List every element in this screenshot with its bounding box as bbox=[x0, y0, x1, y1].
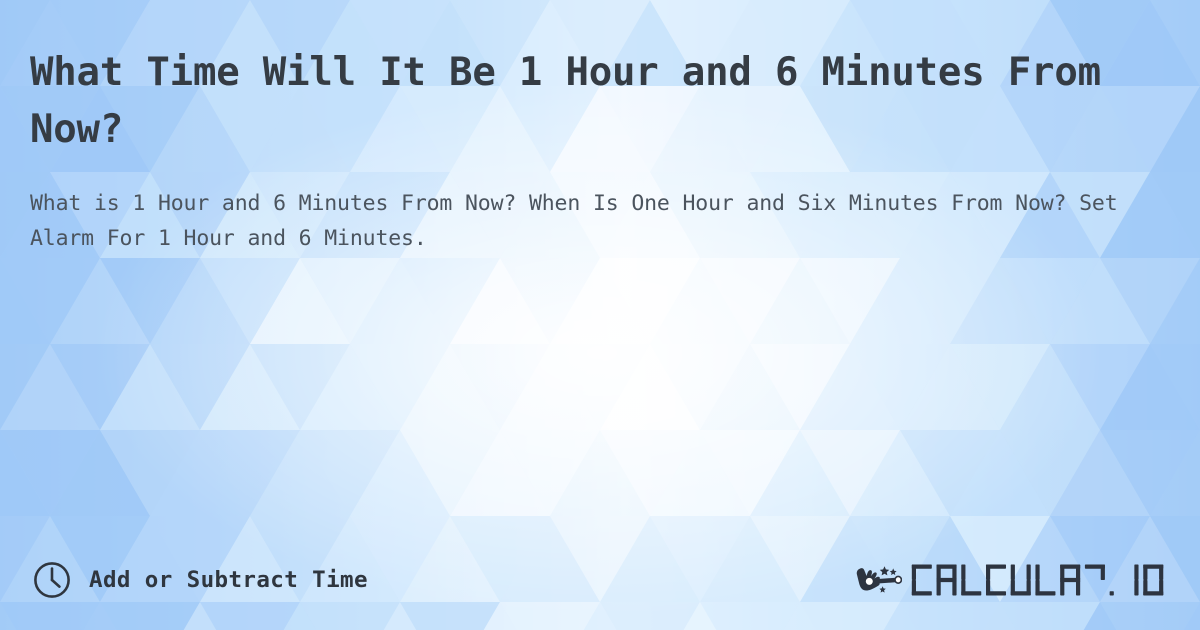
clock-icon bbox=[32, 560, 72, 600]
brand-logo[interactable] bbox=[854, 548, 1170, 612]
footer: Add or Subtract Time bbox=[0, 548, 1200, 612]
page-subtitle: What is 1 Hour and 6 Minutes From Now? W… bbox=[30, 186, 1170, 256]
content-layer: What Time Will It Be 1 Hour and 6 Minute… bbox=[0, 0, 1200, 630]
hand-holding-magic-wand-icon bbox=[854, 559, 902, 601]
footer-category[interactable]: Add or Subtract Time bbox=[32, 548, 368, 612]
footer-category-label: Add or Subtract Time bbox=[89, 567, 368, 593]
og-card: What Time Will It Be 1 Hour and 6 Minute… bbox=[0, 0, 1200, 630]
brand-wordmark bbox=[910, 560, 1170, 600]
page-title: What Time Will It Be 1 Hour and 6 Minute… bbox=[30, 44, 1170, 158]
